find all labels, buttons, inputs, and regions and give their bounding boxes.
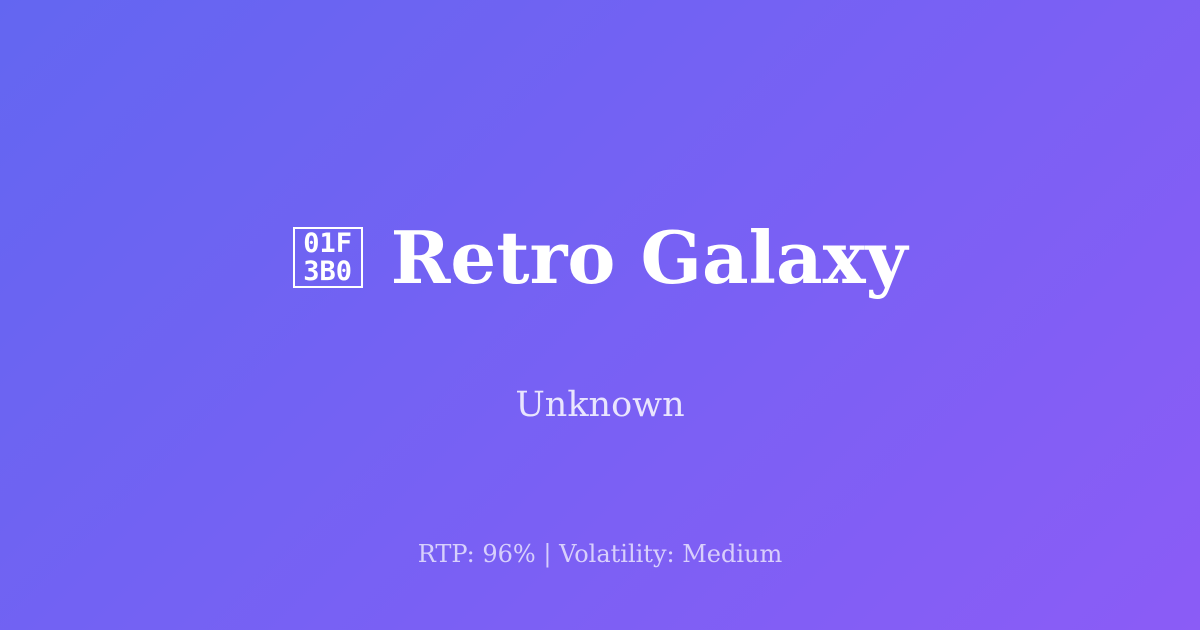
slot-machine-icon: 01F 3B0 xyxy=(293,227,363,288)
slot-machine-icon-codepoint-top: 01F xyxy=(303,230,352,258)
title-row: 01F 3B0 Retro Galaxy xyxy=(0,173,1200,341)
game-preview-card: 01F 3B0 Retro Galaxy Unknown RTP: 96% | … xyxy=(0,0,1200,630)
slot-machine-icon-codepoint-bottom: 3B0 xyxy=(303,258,352,286)
game-title: Retro Galaxy xyxy=(391,222,908,294)
hero-block: 01F 3B0 Retro Galaxy Unknown xyxy=(0,173,1200,422)
game-provider-subtitle: Unknown xyxy=(515,388,684,423)
game-meta-footer: RTP: 96% | Volatility: Medium xyxy=(0,542,1200,566)
